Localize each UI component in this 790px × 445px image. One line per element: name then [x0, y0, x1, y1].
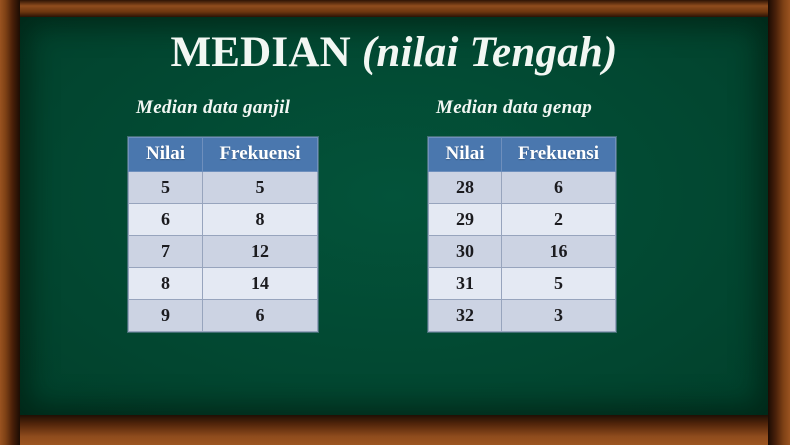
cell-frekuensi: 16: [502, 236, 616, 268]
cell-nilai: 28: [429, 172, 502, 204]
cell-nilai: 5: [129, 172, 203, 204]
slide-root: MEDIAN (nilai Tengah) Median data ganjil…: [0, 0, 790, 445]
frame-right-edge: [768, 0, 790, 445]
table-row: 31 5: [429, 268, 616, 300]
subtitle-median-genap: Median data genap: [436, 97, 678, 119]
cell-nilai: 31: [429, 268, 502, 300]
column-header-nilai: Nilai: [429, 138, 502, 172]
column-header-frekuensi: Frekuensi: [203, 138, 318, 172]
cell-frekuensi: 5: [502, 268, 616, 300]
table-row: 7 12: [129, 236, 318, 268]
chalkboard: MEDIAN (nilai Tengah) Median data ganjil…: [20, 17, 768, 415]
subtitle-median-ganjil: Median data ganjil: [136, 97, 378, 119]
table-row: 9 6: [129, 300, 318, 332]
tables-container: Median data ganjil Nilai Frekuensi 5 5: [20, 17, 768, 415]
table-row: 6 8: [129, 204, 318, 236]
table-row: 8 14: [129, 268, 318, 300]
cell-frekuensi: 12: [203, 236, 318, 268]
cell-nilai: 6: [129, 204, 203, 236]
table-row: 30 16: [429, 236, 616, 268]
cell-frekuensi: 6: [203, 300, 318, 332]
table-header-row: Nilai Frekuensi: [129, 138, 318, 172]
panel-median-ganjil: Median data ganjil Nilai Frekuensi 5 5: [128, 97, 378, 332]
cell-frekuensi: 8: [203, 204, 318, 236]
cell-frekuensi: 6: [502, 172, 616, 204]
table-row: 32 3: [429, 300, 616, 332]
cell-frekuensi: 5: [203, 172, 318, 204]
table-row: 5 5: [129, 172, 318, 204]
frame-left-edge: [0, 0, 20, 445]
frequency-table-ganjil: Nilai Frekuensi 5 5 6 8: [128, 137, 318, 332]
panel-median-genap: Median data genap Nilai Frekuensi 28 6: [428, 97, 678, 332]
column-header-frekuensi: Frekuensi: [502, 138, 616, 172]
table-header-row: Nilai Frekuensi: [429, 138, 616, 172]
cell-nilai: 30: [429, 236, 502, 268]
cell-nilai: 32: [429, 300, 502, 332]
cell-frekuensi: 14: [203, 268, 318, 300]
frequency-table-genap: Nilai Frekuensi 28 6 29 2: [428, 137, 616, 332]
cell-nilai: 7: [129, 236, 203, 268]
cell-nilai: 9: [129, 300, 203, 332]
cell-nilai: 29: [429, 204, 502, 236]
cell-nilai: 8: [129, 268, 203, 300]
cell-frekuensi: 3: [502, 300, 616, 332]
cell-frekuensi: 2: [502, 204, 616, 236]
frame-top-edge: [0, 0, 790, 17]
frame-bottom-edge: [0, 415, 790, 445]
column-header-nilai: Nilai: [129, 138, 203, 172]
table-row: 29 2: [429, 204, 616, 236]
table-row: 28 6: [429, 172, 616, 204]
